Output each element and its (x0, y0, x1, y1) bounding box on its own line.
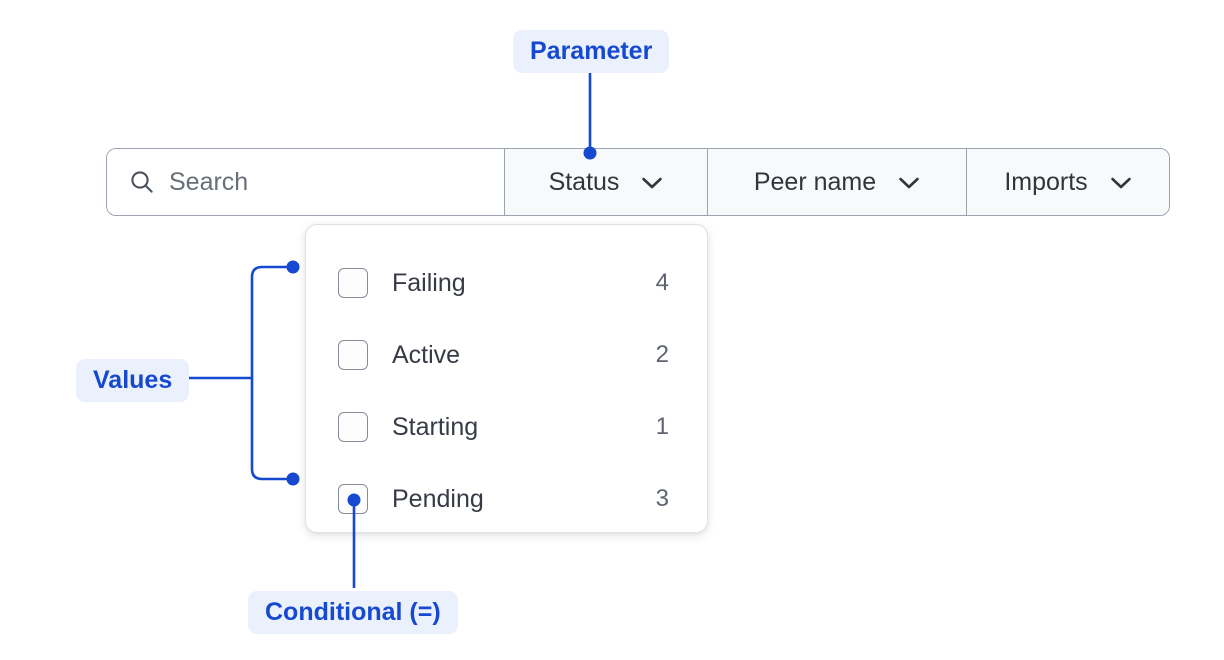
option-count-pending: 3 (649, 485, 669, 513)
option-count-starting: 1 (649, 413, 669, 441)
status-filter-button[interactable]: Status (505, 149, 708, 215)
dropdown-option-pending[interactable]: Pending 3 (306, 463, 707, 535)
annotation-label-conditional: Conditional (=) (248, 591, 458, 634)
option-label-failing: Failing (392, 269, 649, 298)
annotation-label-values: Values (76, 359, 189, 402)
option-checkbox-failing[interactable] (338, 268, 368, 298)
option-checkbox-active[interactable] (338, 340, 368, 370)
peer-name-filter-button[interactable]: Peer name (708, 149, 967, 215)
imports-filter-button[interactable]: Imports (967, 149, 1169, 215)
filter-toolbar: Status Peer name Imports (106, 148, 1170, 216)
dropdown-option-list: Failing 4 Active 2 Starting 1 Pending 3 (306, 247, 707, 535)
search-field[interactable] (107, 149, 505, 215)
option-count-active: 2 (649, 341, 669, 369)
chevron-down-icon (898, 176, 920, 189)
search-input[interactable] (169, 168, 489, 197)
search-icon (129, 169, 155, 195)
values-bracket (252, 267, 293, 479)
option-checkbox-starting[interactable] (338, 412, 368, 442)
imports-filter-label: Imports (1004, 168, 1087, 197)
chevron-down-icon (1110, 176, 1132, 189)
annotated-filter-diagram: Status Peer name Imports Failing 4 (0, 0, 1224, 660)
option-label-active: Active (392, 341, 649, 370)
dropdown-option-failing[interactable]: Failing 4 (306, 247, 707, 319)
status-filter-dropdown-panel: Failing 4 Active 2 Starting 1 Pending 3 (305, 224, 708, 533)
values-bracket-dot-top (287, 261, 300, 274)
peer-name-filter-label: Peer name (754, 168, 876, 197)
option-checkbox-pending[interactable] (338, 484, 368, 514)
dropdown-option-active[interactable]: Active 2 (306, 319, 707, 391)
values-bracket-dot-bottom (287, 473, 300, 486)
chevron-down-icon (641, 176, 663, 189)
annotation-label-parameter: Parameter (513, 30, 669, 73)
dropdown-option-starting[interactable]: Starting 1 (306, 391, 707, 463)
option-count-failing: 4 (649, 269, 669, 297)
status-filter-label: Status (549, 168, 620, 197)
option-label-pending: Pending (392, 485, 649, 514)
option-label-starting: Starting (392, 413, 649, 442)
